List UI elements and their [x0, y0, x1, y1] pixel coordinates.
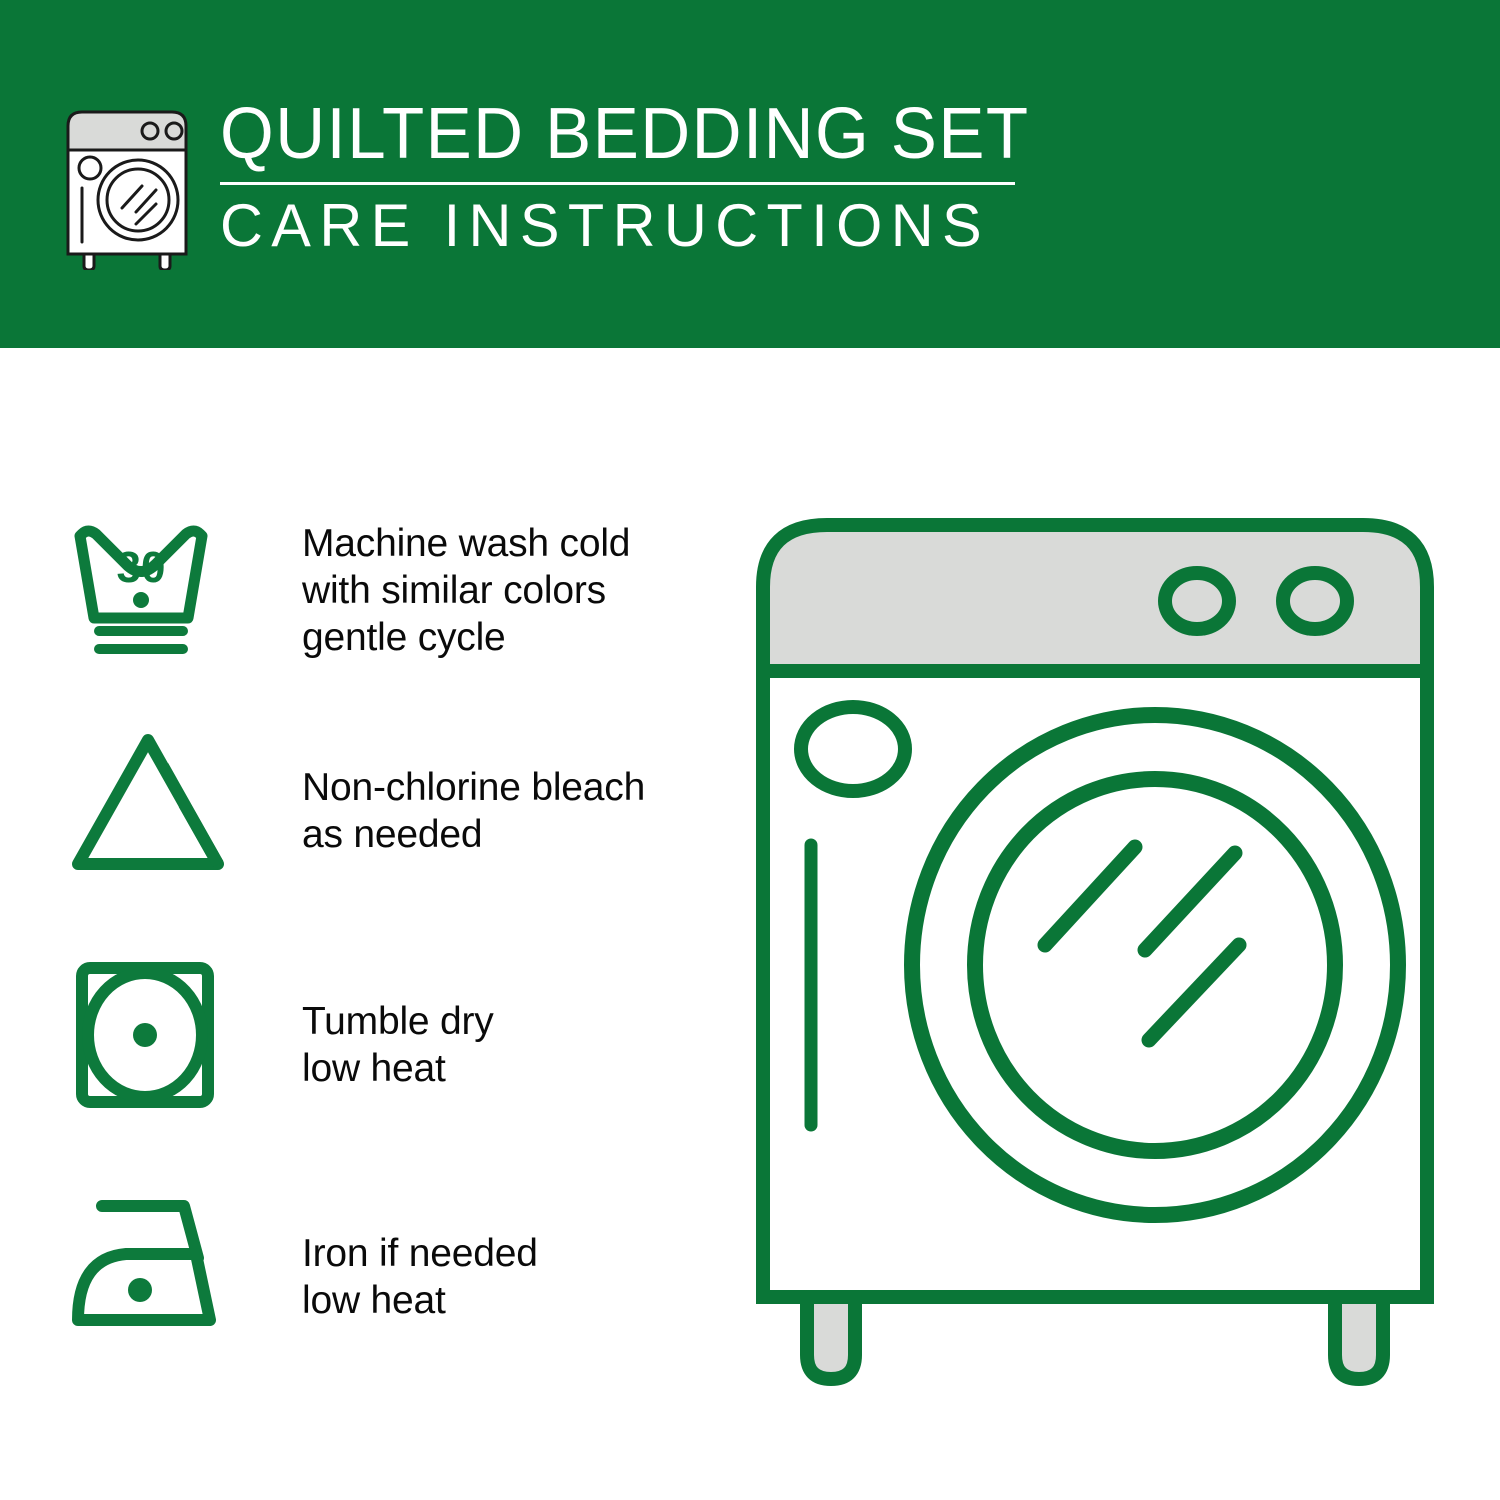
care-row-bleach: Non-chlorine bleach as needed — [70, 722, 730, 902]
header-banner: QUILTED BEDDING SET CARE INSTRUCTIONS — [0, 0, 1500, 348]
wash-tub-30-gentle-icon: 30 — [70, 500, 245, 660]
header-titles: QUILTED BEDDING SET CARE INSTRUCTIONS — [220, 96, 1080, 259]
non-chlorine-bleach-triangle-icon — [70, 722, 245, 882]
washing-machine-icon — [62, 104, 198, 270]
svg-text:30: 30 — [117, 543, 166, 592]
care-instructions-infographic: QUILTED BEDDING SET CARE INSTRUCTIONS 30 — [0, 0, 1500, 1500]
page-subtitle: CARE INSTRUCTIONS — [220, 193, 1071, 259]
care-text-iron: Iron if needed low heat — [302, 1230, 538, 1324]
header-content: QUILTED BEDDING SET CARE INSTRUCTIONS — [62, 96, 1062, 276]
washing-machine-illustration — [745, 495, 1455, 1425]
care-text-tumble-dry: Tumble dry low heat — [302, 998, 494, 1092]
page-title: QUILTED BEDDING SET — [220, 96, 1046, 172]
tumble-dry-low-icon — [70, 956, 245, 1116]
care-row-tumble-dry: Tumble dry low heat — [70, 956, 730, 1136]
title-divider — [220, 182, 1015, 185]
care-row-machine-wash: 30 Machine wash cold with similar colors… — [70, 500, 730, 680]
leg-left — [807, 1297, 855, 1379]
care-text-bleach: Non-chlorine bleach as needed — [302, 764, 645, 858]
control-panel — [763, 525, 1427, 671]
leg-right — [1335, 1297, 1383, 1379]
care-text-machine-wash: Machine wash cold with similar colors ge… — [302, 520, 630, 661]
iron-low-heat-icon — [70, 1188, 245, 1348]
care-row-iron: Iron if needed low heat — [70, 1188, 730, 1368]
